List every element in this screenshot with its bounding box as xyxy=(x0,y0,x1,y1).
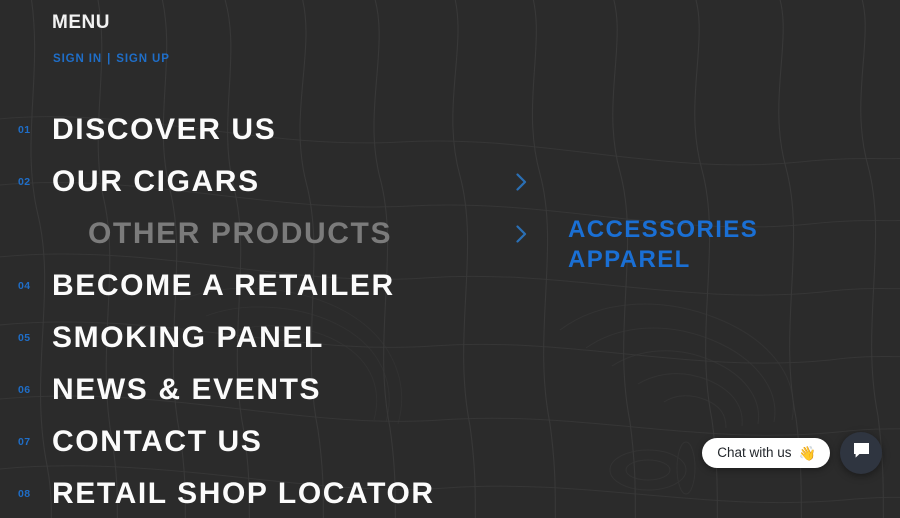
nav-item-label[interactable]: CONTACT US xyxy=(52,425,262,459)
chat-bubble-icon xyxy=(852,441,871,465)
submenu-item-accessories[interactable]: ACCESSORIES xyxy=(568,216,758,244)
auth-links: SIGN IN | SIGN UP xyxy=(53,53,170,65)
nav-item-label[interactable]: NEWS & EVENTS xyxy=(52,373,321,407)
nav-item-label[interactable]: DISCOVER US xyxy=(52,113,276,147)
nav-item-number: 05 xyxy=(18,332,30,344)
nav-item-number: 04 xyxy=(18,280,30,292)
nav-item-number: 01 xyxy=(18,124,30,136)
submenu-other-products: ACCESSORIES APPAREL xyxy=(568,216,758,275)
chevron-right-icon[interactable] xyxy=(514,172,528,192)
menu-overlay: MENU SIGN IN | SIGN UP 01 DISCOVER US 02… xyxy=(0,0,900,518)
nav-item-number: 02 xyxy=(18,176,30,188)
submenu-item-apparel[interactable]: APPAREL xyxy=(568,246,758,274)
nav-item-other-products[interactable]: 03 OTHER PRODUCTS xyxy=(0,208,900,260)
page-title: MENU xyxy=(52,12,110,34)
chat-prompt-pill[interactable]: Chat with us 👋 xyxy=(702,438,830,468)
nav-item-become-a-retailer[interactable]: 04 BECOME A RETAILER xyxy=(0,260,900,312)
open-chat-button[interactable] xyxy=(840,432,882,474)
chat-prompt-text: Chat with us xyxy=(717,445,791,460)
nav-item-number: 07 xyxy=(18,436,30,448)
nav-item-label[interactable]: SMOKING PANEL xyxy=(52,321,324,355)
nav-item-retail-shop-locator[interactable]: 08 RETAIL SHOP LOCATOR xyxy=(0,468,900,518)
nav-item-label[interactable]: RETAIL SHOP LOCATOR xyxy=(52,477,435,511)
nav-item-label[interactable]: BECOME A RETAILER xyxy=(52,269,395,303)
nav-item-number: 08 xyxy=(18,488,30,500)
sign-in-link[interactable]: SIGN IN xyxy=(53,53,102,65)
nav-item-smoking-panel[interactable]: 05 SMOKING PANEL xyxy=(0,312,900,364)
waving-hand-icon: 👋 xyxy=(799,446,816,460)
nav-item-label[interactable]: OTHER PRODUCTS xyxy=(88,217,392,251)
auth-separator: | xyxy=(107,53,111,65)
nav-item-our-cigars[interactable]: 02 OUR CIGARS xyxy=(0,156,900,208)
chevron-right-icon[interactable] xyxy=(514,224,528,244)
chat-widget: Chat with us 👋 xyxy=(702,432,882,474)
nav-item-discover-us[interactable]: 01 DISCOVER US xyxy=(0,104,900,156)
nav-item-number: 06 xyxy=(18,384,30,396)
nav-item-label[interactable]: OUR CIGARS xyxy=(52,165,260,199)
nav-item-news-and-events[interactable]: 06 NEWS & EVENTS xyxy=(0,364,900,416)
sign-up-link[interactable]: SIGN UP xyxy=(116,53,170,65)
